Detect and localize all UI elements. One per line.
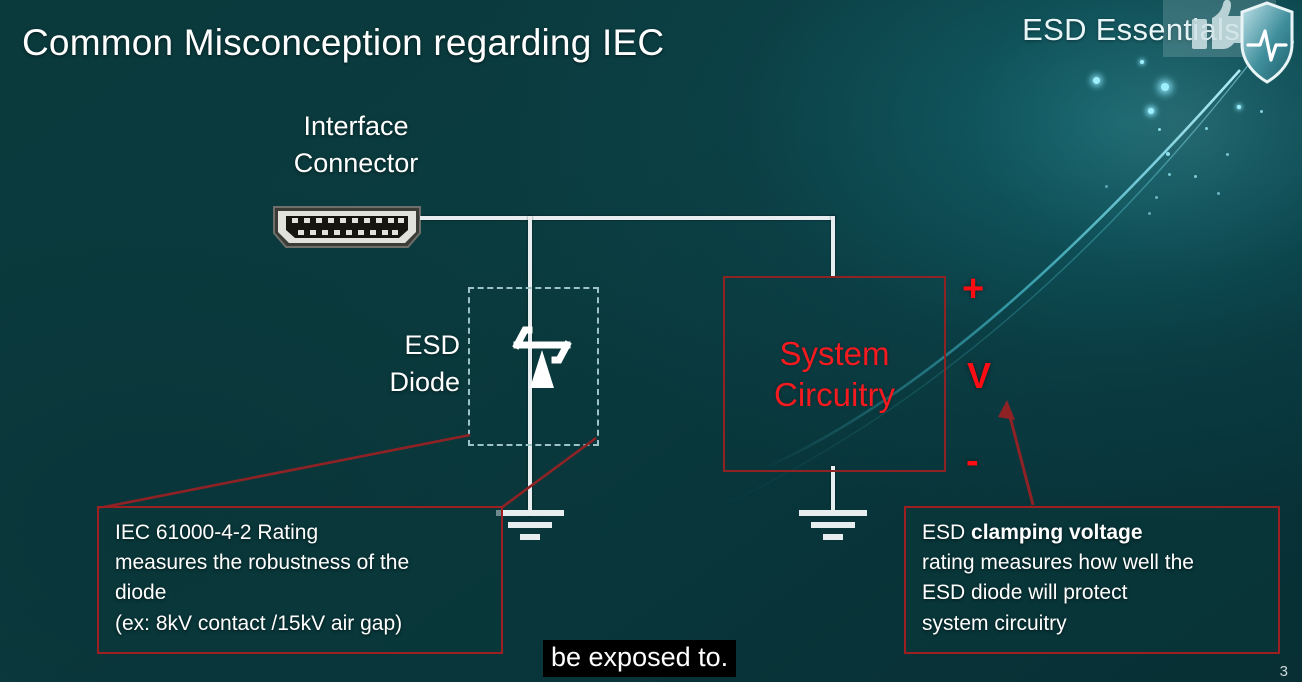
subtitle-caption: be exposed to. — [543, 640, 736, 677]
system-circuitry-label: System Circuitry — [774, 333, 895, 416]
wire-node-to-system — [831, 216, 835, 278]
esd-label-line2: Diode — [340, 364, 460, 401]
zener-diode-symbol-icon — [487, 310, 587, 415]
hdmi-connector-icon — [268, 203, 426, 251]
left-callout-line3: diode — [115, 578, 487, 608]
esd-diode-label: ESD Diode — [340, 327, 460, 400]
left-callout-line2: measures the robustness of the — [115, 548, 487, 578]
page-number: 3 — [1280, 663, 1288, 680]
left-callout-line4: (ex: 8kV contact /15kV air gap) — [115, 609, 487, 639]
left-callout-box: IEC 61000-4-2 Rating measures the robust… — [97, 506, 503, 654]
interface-label-line2: Connector — [281, 145, 431, 182]
slide-title: Common Misconception regarding IEC — [22, 22, 664, 64]
wire-connector-to-node — [420, 216, 835, 220]
esd-label-line1: ESD — [340, 327, 460, 364]
system-label-line1: System — [774, 333, 895, 374]
interface-label-line1: Interface — [281, 108, 431, 145]
right-callout-line3: ESD diode will protect — [922, 578, 1264, 608]
interface-connector-label: Interface Connector — [281, 108, 431, 181]
right-callout-line1: ESD clamping voltage — [922, 518, 1264, 548]
ground-symbol-diode-icon — [496, 508, 564, 542]
slide-canvas: Common Misconception regarding IEC ESD E… — [0, 0, 1302, 682]
system-label-line2: Circuitry — [774, 374, 895, 415]
polarity-plus-label: + — [962, 268, 984, 311]
system-circuitry-box: System Circuitry — [723, 276, 946, 472]
right-callout-line4: system circuitry — [922, 609, 1264, 639]
right-callout-box: ESD clamping voltage rating measures how… — [904, 506, 1280, 654]
shield-logo-icon — [1238, 0, 1296, 86]
polarity-minus-label: - — [966, 440, 979, 483]
wire-system-to-ground — [831, 466, 835, 512]
polarity-voltage-label: V — [967, 355, 991, 397]
left-callout-line1: IEC 61000-4-2 Rating — [115, 518, 487, 548]
right-callout-line2: rating measures how well the — [922, 548, 1264, 578]
right-callout-bold: clamping voltage — [971, 521, 1143, 544]
right-callout-lead: ESD — [922, 521, 971, 544]
ground-symbol-system-icon — [799, 508, 867, 542]
